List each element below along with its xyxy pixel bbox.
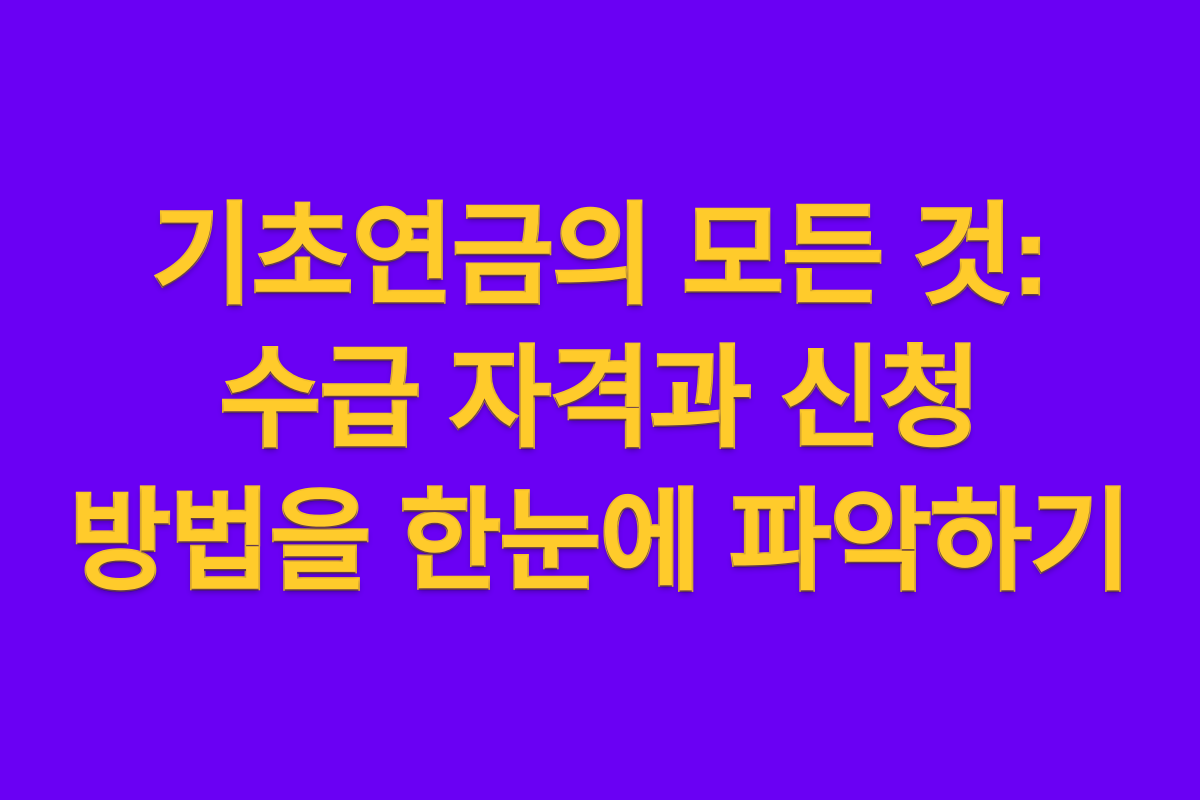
page-title: 기초연금의 모든 것: 수급 자격과 신청 방법을 한눈에 파악하기 xyxy=(0,185,1200,614)
title-line-2: 수급 자격과 신청 xyxy=(14,328,1186,471)
banner-canvas: 기초연금의 모든 것: 수급 자격과 신청 방법을 한눈에 파악하기 xyxy=(0,0,1200,800)
title-line-1: 기초연금의 모든 것: xyxy=(14,185,1186,328)
title-line-3: 방법을 한눈에 파악하기 xyxy=(14,471,1186,614)
